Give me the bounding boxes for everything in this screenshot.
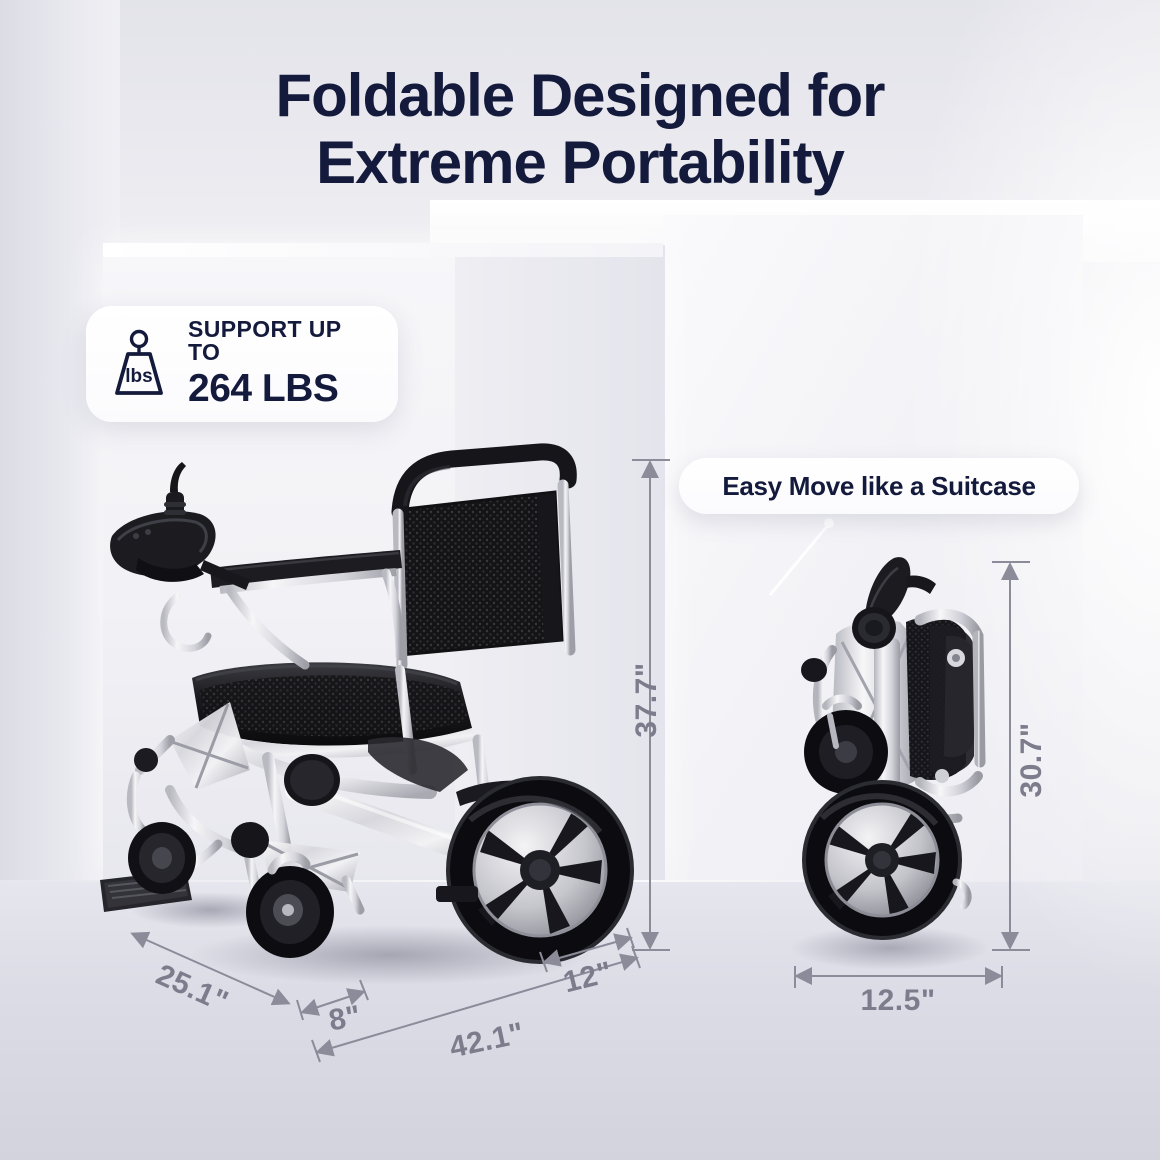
dimlabel-folded-height: 30.7" [1015, 722, 1049, 797]
dimlabel-front-caster: 8" [326, 999, 363, 1038]
dimlabel-folded-width: 12.5" [860, 984, 935, 1018]
dimlabel-overall-height: 37.7" [630, 662, 664, 737]
infographic-canvas: Foldable Designed for Extreme Portabilit… [0, 0, 1160, 1160]
dimline-rear-wheel [545, 938, 630, 962]
